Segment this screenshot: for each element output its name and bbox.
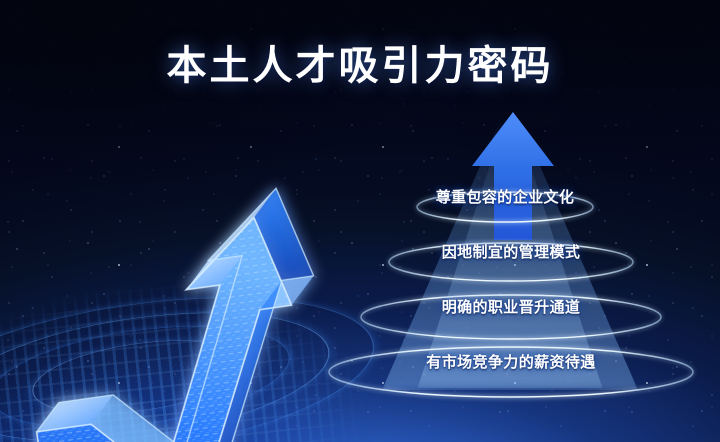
poster-canvas: 尊重包容的企业文化 因地制宜的管理模式 明确的职业晋升通道 有市场竞争力的薪资待… [0,0,720,442]
funnel-label-3: 明确的职业晋升通道 [442,296,581,317]
funnel-label-1: 尊重包容的企业文化 [436,186,575,207]
hologram-trend-arrow-graphic [0,143,425,442]
trend-arrow-icon [0,143,425,442]
up-arrow-icon [470,110,556,240]
funnel-label-2: 因地制宜的管理模式 [442,241,581,262]
page-title: 本土人才吸引力密码 [0,33,720,91]
funnel-label-4: 有市场竞争力的薪资待遇 [426,351,595,372]
